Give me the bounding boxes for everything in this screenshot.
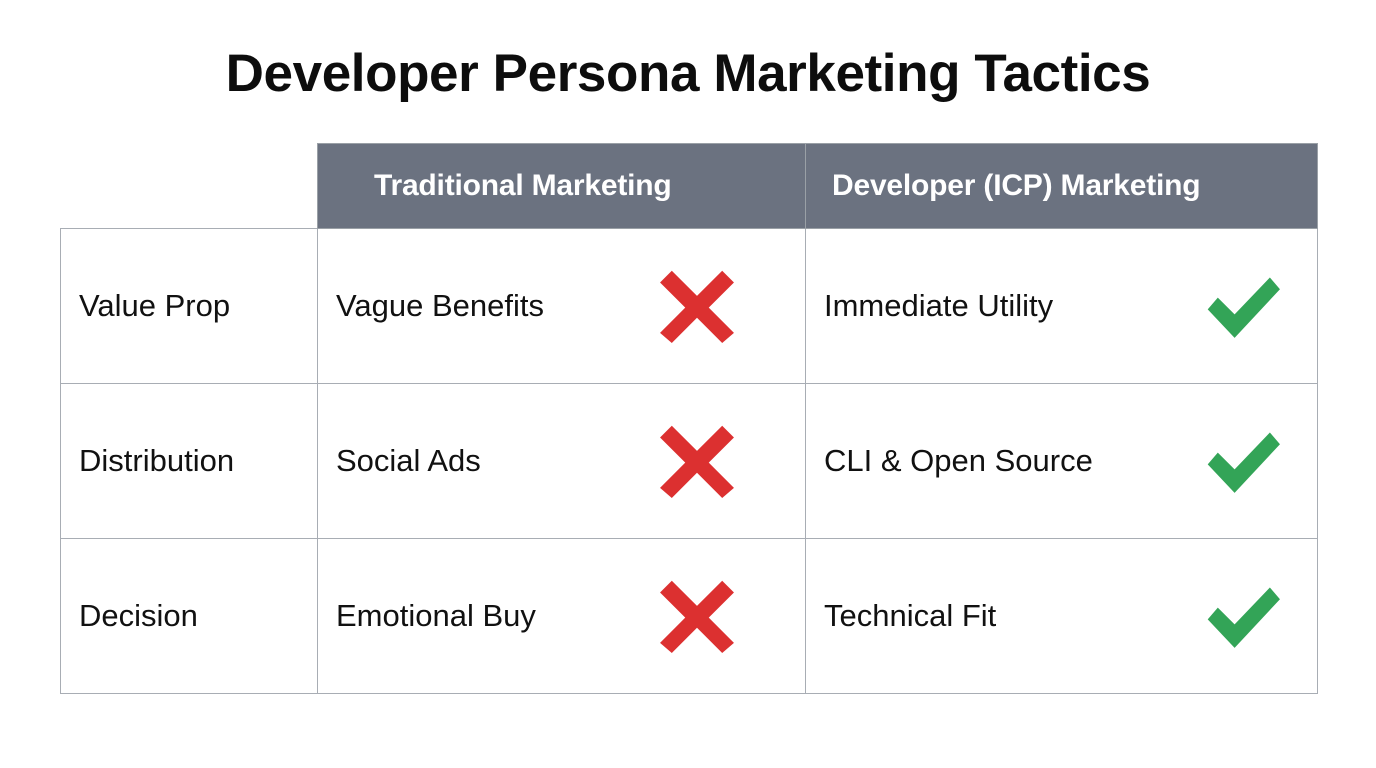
page-title: Developer Persona Marketing Tactics	[0, 44, 1376, 105]
cell-text: Emotional Buy	[336, 598, 536, 634]
table-row: Decision Emotional Buy	[61, 538, 1318, 693]
cross-icon	[655, 419, 739, 503]
row-label-value-prop: Value Prop	[61, 228, 318, 383]
table-header-row: Traditional Marketing Developer (ICP) Ma…	[61, 144, 1318, 229]
cell-text: Technical Fit	[824, 598, 996, 634]
row-label-distribution: Distribution	[61, 383, 318, 538]
cell-text: CLI & Open Source	[824, 443, 1093, 479]
slide-canvas: Developer Persona Marketing Tactics Trad…	[0, 0, 1376, 768]
table-row: Distribution Social Ads	[61, 383, 1318, 538]
row-label-decision: Decision	[61, 538, 318, 693]
comparison-table-container: Traditional Marketing Developer (ICP) Ma…	[60, 143, 1317, 693]
table-body: Value Prop Vague Benefits	[61, 228, 1318, 693]
table-row: Value Prop Vague Benefits	[61, 228, 1318, 383]
cell-traditional-decision: Emotional Buy	[318, 538, 806, 693]
table-header-corner-blank	[61, 144, 318, 229]
cross-icon	[655, 264, 739, 348]
check-icon	[1201, 574, 1285, 658]
column-header-developer-icp-marketing: Developer (ICP) Marketing	[806, 144, 1318, 229]
table-header: Traditional Marketing Developer (ICP) Ma…	[61, 144, 1318, 229]
cell-developer-distribution: CLI & Open Source	[806, 383, 1318, 538]
cell-text: Vague Benefits	[336, 288, 544, 324]
comparison-table: Traditional Marketing Developer (ICP) Ma…	[60, 143, 1318, 694]
check-icon	[1201, 264, 1285, 348]
cell-text: Social Ads	[336, 443, 481, 479]
cell-text: Immediate Utility	[824, 288, 1053, 324]
cell-traditional-distribution: Social Ads	[318, 383, 806, 538]
cell-traditional-value-prop: Vague Benefits	[318, 228, 806, 383]
cell-developer-decision: Technical Fit	[806, 538, 1318, 693]
column-header-traditional-marketing: Traditional Marketing	[318, 144, 806, 229]
check-icon	[1201, 419, 1285, 503]
cell-developer-value-prop: Immediate Utility	[806, 228, 1318, 383]
cross-icon	[655, 574, 739, 658]
